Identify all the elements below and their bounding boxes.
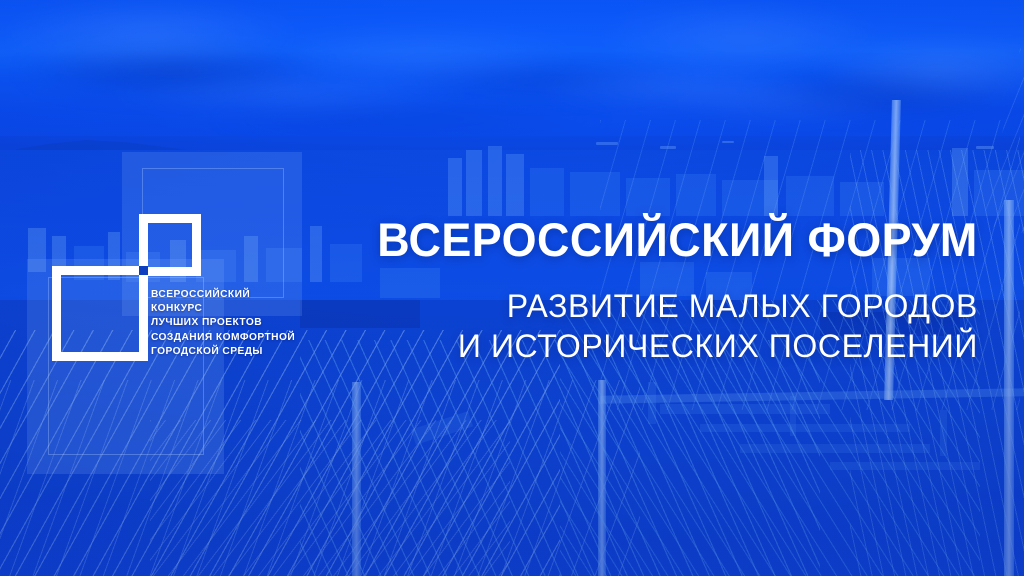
forum-subtitle-line-2: И ИСТОРИЧЕСКИХ ПОСЕЛЕНИЙ	[349, 326, 978, 366]
logo-tagline-line-3: ЛУЧШИХ ПРОЕКТОВ	[151, 316, 295, 330]
logo-tagline-line-2: КОНКУРС	[151, 302, 295, 316]
logo-square-intersection	[139, 266, 148, 275]
poster-canvas: ВСЕРОССИЙСКИЙ КОНКУРС ЛУЧШИХ ПРОЕКТОВ СО…	[0, 0, 1024, 576]
logo-square-small-icon	[139, 214, 201, 276]
forum-title: ВСЕРОССИЙСКИЙ ФОРУМ	[378, 214, 978, 266]
logo-tagline-line-1: ВСЕРОССИЙСКИЙ	[151, 288, 295, 302]
headline-block: ВСЕРОССИЙСКИЙ ФОРУМ РАЗВИТИЕ МАЛЫХ ГОРОД…	[349, 214, 978, 366]
forum-subtitle: РАЗВИТИЕ МАЛЫХ ГОРОДОВ И ИСТОРИЧЕСКИХ ПО…	[349, 286, 978, 366]
logo-square-large-icon	[52, 266, 148, 361]
forum-subtitle-line-1: РАЗВИТИЕ МАЛЫХ ГОРОДОВ	[349, 286, 978, 326]
logo-tagline: ВСЕРОССИЙСКИЙ КОНКУРС ЛУЧШИХ ПРОЕКТОВ СО…	[151, 288, 295, 359]
logo-tagline-line-4: СОЗДАНИЯ КОМФОРТНОЙ	[151, 331, 295, 345]
logo-tagline-line-5: ГОРОДСКОЙ СРЕДЫ	[151, 345, 295, 359]
